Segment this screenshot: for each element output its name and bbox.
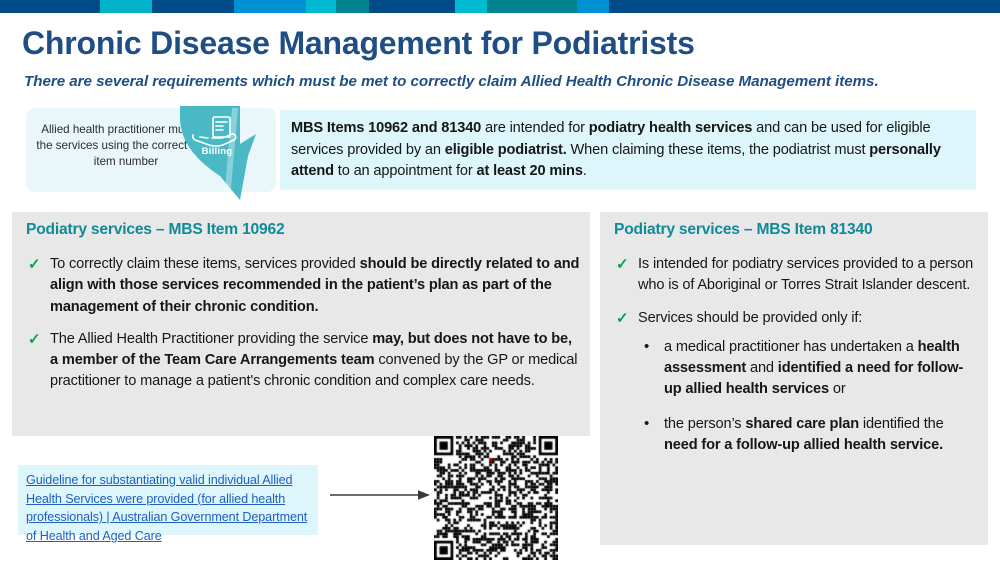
check-list-item-text: To correctly claim these items, services… bbox=[50, 256, 579, 315]
color-bar-segment-1 bbox=[100, 0, 152, 13]
decorative-color-bar bbox=[0, 0, 1000, 13]
panel-right-bullet-list: ✓Is intended for podiatry services provi… bbox=[600, 254, 988, 469]
color-bar-segment-3 bbox=[234, 0, 306, 13]
billing-badge-label: Billing bbox=[186, 146, 248, 157]
guideline-link-box[interactable]: Guideline for substantiating valid indiv… bbox=[18, 465, 318, 535]
panel-mbs-item-10962: Podiatry services – MBS Item 10962 ✓To c… bbox=[12, 212, 590, 436]
color-bar-segment-4 bbox=[306, 0, 336, 13]
sub-bullet-text: a medical practitioner has undertaken a … bbox=[664, 339, 963, 398]
check-list-item: ✓The Allied Health Practitioner providin… bbox=[12, 329, 590, 393]
color-bar-segment-0 bbox=[0, 0, 100, 13]
bullet-dot-icon: • bbox=[644, 413, 649, 435]
panel-left-bullet-list: ✓To correctly claim these items, service… bbox=[12, 254, 590, 404]
check-icon: ✓ bbox=[28, 254, 40, 276]
check-list-item-text: The Allied Health Practitioner providing… bbox=[50, 331, 577, 390]
color-bar-segment-6 bbox=[369, 0, 455, 13]
panel-mbs-item-81340: Podiatry services – MBS Item 81340 ✓Is i… bbox=[600, 212, 988, 545]
check-list-item-text: Is intended for podiatry services provid… bbox=[638, 256, 973, 293]
arrow-pointing-to-qr-icon bbox=[330, 488, 430, 502]
check-list-item-text: Services should be provided only if: bbox=[638, 310, 862, 326]
sub-bullet-item: •a medical practitioner has undertaken a… bbox=[638, 337, 978, 401]
page-title: Chronic Disease Management for Podiatris… bbox=[22, 26, 972, 61]
mbs-intro-text: MBS Items 10962 and 81340 are intended f… bbox=[280, 110, 976, 183]
color-bar-segment-5 bbox=[336, 0, 369, 13]
sub-bullet-list: •a medical practitioner has undertaken a… bbox=[638, 337, 978, 456]
check-list-item: ✓Services should be provided only if:•a … bbox=[600, 308, 988, 457]
mbs-intro-box: MBS Items 10962 and 81340 are intended f… bbox=[280, 110, 976, 190]
qr-code-image[interactable] bbox=[434, 436, 558, 560]
panel-left-heading: Podiatry services – MBS Item 10962 bbox=[26, 221, 284, 239]
guideline-link[interactable]: Guideline for substantiating valid indiv… bbox=[18, 465, 318, 546]
check-icon: ✓ bbox=[616, 308, 628, 330]
bullet-dot-icon: • bbox=[644, 336, 649, 358]
color-bar-segment-8 bbox=[487, 0, 577, 13]
check-icon: ✓ bbox=[28, 329, 40, 351]
panel-right-heading: Podiatry services – MBS Item 81340 bbox=[614, 221, 872, 239]
check-list-item: ✓Is intended for podiatry services provi… bbox=[600, 254, 988, 297]
color-bar-segment-2 bbox=[152, 0, 234, 13]
check-icon: ✓ bbox=[616, 254, 628, 276]
sub-bullet-text: the person’s shared care plan identified… bbox=[664, 416, 944, 453]
color-bar-segment-7 bbox=[455, 0, 487, 13]
color-bar-segment-9 bbox=[577, 0, 609, 13]
check-list-item: ✓To correctly claim these items, service… bbox=[12, 254, 590, 318]
color-bar-segment-10 bbox=[609, 0, 1000, 13]
sub-bullet-item: •the person’s shared care plan identifie… bbox=[638, 414, 978, 457]
page-subtitle: There are several requirements which mus… bbox=[24, 73, 1000, 90]
